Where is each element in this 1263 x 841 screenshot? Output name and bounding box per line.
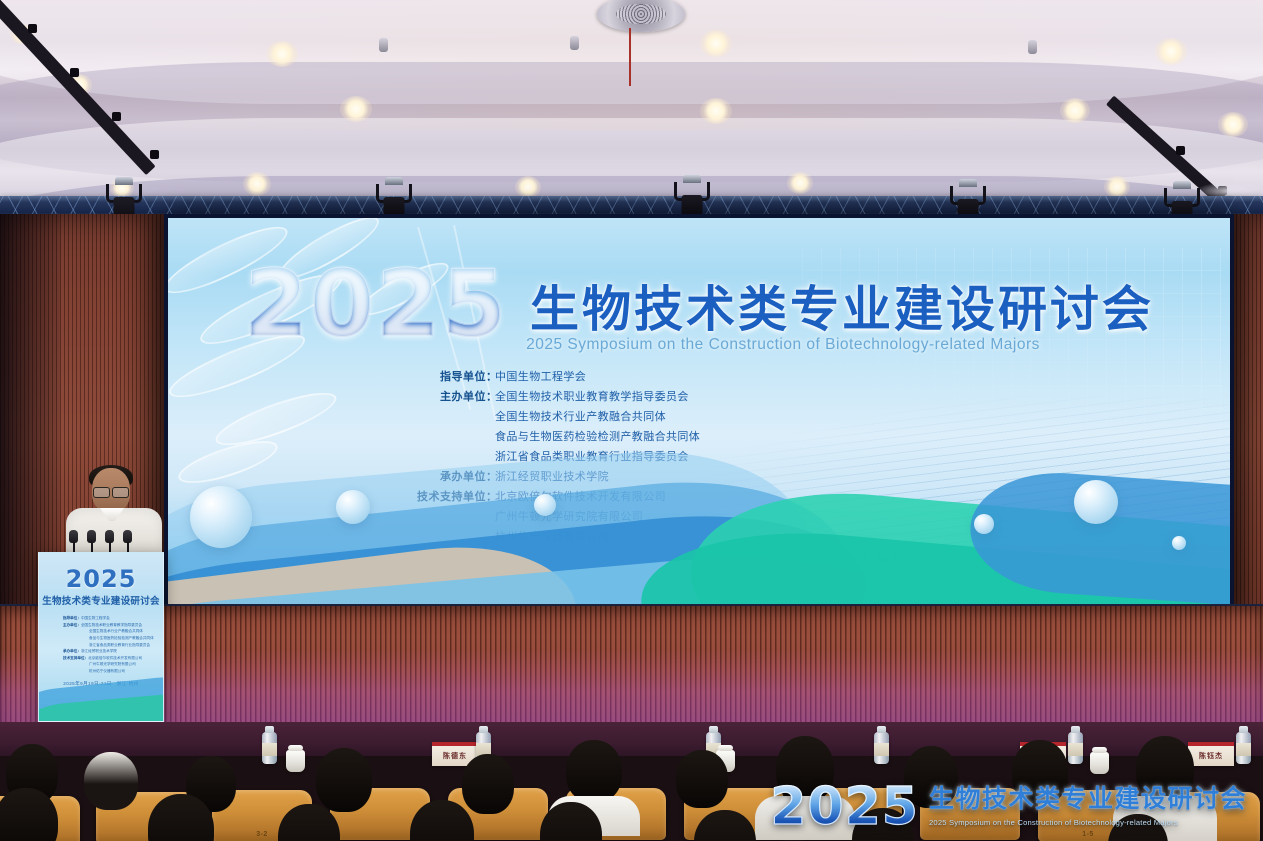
podium-organization-value: 全国生物技术行业产教融合共同体 bbox=[89, 629, 143, 633]
organization-colon: ： bbox=[486, 368, 495, 384]
event-watermark-logo: 2025 生物技术类专业建设研讨会 2025 Symposium on the … bbox=[770, 779, 1247, 831]
audience-head bbox=[410, 800, 474, 841]
rail-spotlight bbox=[1176, 146, 1185, 155]
podium-organization-line: 广州牛顿光学研究院有限公司 bbox=[63, 661, 155, 668]
tea-cup bbox=[1090, 752, 1109, 774]
table-name-card: 陈钰杰 bbox=[1188, 742, 1234, 766]
screen-surface: 2025 生物技术类专业建设研讨会 2025 Symposium on the … bbox=[168, 218, 1230, 606]
microphone bbox=[105, 530, 114, 543]
organization-label: 指导单位 bbox=[400, 368, 486, 384]
ceiling-downlight bbox=[1060, 98, 1090, 123]
audience-head bbox=[694, 810, 756, 841]
organization-value: 食品与生物医药检验检测产教融合共同体 bbox=[495, 428, 700, 444]
organization-line: 主办单位：全国生物技术职业教育教学指导委员会 bbox=[400, 388, 1230, 404]
podium-organizations: 指导单位：中国生物工程学会主办单位：全国生物技术职业教育教学指导委员会全国生物技… bbox=[63, 615, 155, 675]
audience-head bbox=[278, 804, 340, 841]
bottle-cap bbox=[265, 726, 274, 733]
rail-spotlight bbox=[112, 112, 121, 121]
organization-value: 中国生物工程学会 bbox=[495, 368, 586, 384]
ceiling-downlight bbox=[787, 172, 813, 194]
podium-organization-value: 全国生物技术职业教育教学指导委员会 bbox=[81, 623, 142, 627]
water-bottle bbox=[1068, 732, 1083, 764]
podium-organization-line: 食品与生物医药检验检测产教融合共同体 bbox=[63, 635, 155, 642]
bottle-cap bbox=[709, 726, 718, 733]
podium-organization-line: 浙江省食品类职业教育行业指导委员会 bbox=[63, 642, 155, 649]
seat-number: 3-2 bbox=[256, 831, 268, 838]
microphone bbox=[69, 530, 78, 543]
ceiling-downlight bbox=[700, 30, 732, 57]
bottle-cap bbox=[877, 726, 886, 733]
audience-member bbox=[278, 804, 340, 841]
audience-member bbox=[148, 794, 214, 841]
podium-organization-line: 主办单位：全国生物技术职业教育教学指导委员会 bbox=[63, 622, 155, 629]
decorative-sphere bbox=[1074, 480, 1118, 524]
podium-organization-value: 浙江经贸职业技术学院 bbox=[81, 649, 117, 653]
rail-spotlight bbox=[28, 24, 37, 33]
ceiling-downlight bbox=[266, 41, 298, 67]
decorative-sphere bbox=[1172, 536, 1186, 550]
audience-member bbox=[540, 802, 602, 841]
audience-head bbox=[566, 740, 622, 802]
bottle-label bbox=[1068, 743, 1083, 756]
podium-organization-label: 主办单位： bbox=[63, 623, 81, 627]
podium-organization-label: 指导单位： bbox=[63, 616, 81, 620]
bottle-label bbox=[1236, 743, 1251, 756]
audience-head bbox=[148, 794, 214, 841]
organization-line: 指导单位：中国生物工程学会 bbox=[400, 368, 1230, 384]
bottle-cap bbox=[479, 726, 488, 733]
audience-head bbox=[540, 802, 602, 841]
podium-year: 2025 bbox=[39, 565, 163, 593]
watermark-title-cn: 生物技术类专业建设研讨会 bbox=[929, 779, 1247, 815]
watermark-year: 2025 bbox=[770, 785, 919, 831]
water-bottle bbox=[1236, 732, 1251, 764]
audience-member bbox=[410, 800, 474, 841]
speaker-glasses bbox=[93, 487, 110, 498]
seat-number: 1-5 bbox=[1082, 831, 1094, 838]
decorative-sphere bbox=[190, 486, 252, 548]
podium-organization-value: 食品与生物医药检验检测产教融合共同体 bbox=[89, 636, 154, 640]
audience-head bbox=[676, 750, 728, 808]
ceiling-downlight bbox=[340, 96, 372, 122]
ceiling-sensor bbox=[379, 38, 388, 52]
ceiling-downlight bbox=[1155, 38, 1187, 65]
audience-member bbox=[694, 810, 756, 841]
podium-organization-line: 指导单位：中国生物工程学会 bbox=[63, 615, 155, 622]
decorative-sphere bbox=[534, 494, 556, 516]
speaker-presenter bbox=[60, 468, 168, 560]
audience-head bbox=[316, 748, 372, 812]
podium-organization-value: 北京欧倍尔软件技术开发有限公司 bbox=[88, 656, 142, 660]
name-card-text: 陈钰杰 bbox=[1199, 751, 1223, 761]
podium-organization-line: 全国生物技术行业产教融合共同体 bbox=[63, 628, 155, 635]
podium-organization-value: 广州牛顿光学研究院有限公司 bbox=[89, 662, 136, 666]
banner-title-en: 2025 Symposium on the Construction of Bi… bbox=[168, 336, 1230, 354]
led-stage-screen: 2025 生物技术类专业建设研讨会 2025 Symposium on the … bbox=[164, 214, 1234, 610]
watermark-title-en: 2025 Symposium on the Construction of Bi… bbox=[929, 818, 1247, 827]
bottle-cap bbox=[1239, 726, 1248, 733]
audience-head bbox=[0, 788, 58, 841]
organization-colon: ： bbox=[486, 388, 495, 404]
organization-value: 全国生物技术行业产教融合共同体 bbox=[495, 408, 666, 424]
organization-line: 食品与生物医药检验检测产教融合共同体 bbox=[400, 428, 1230, 444]
decorative-sphere bbox=[336, 490, 370, 524]
ceiling-downlight bbox=[700, 98, 732, 124]
speaker-glasses bbox=[112, 487, 129, 498]
microphone bbox=[87, 530, 96, 543]
ceiling-sensor bbox=[570, 36, 579, 50]
banner-title-row: 2025 生物技术类专业建设研讨会 bbox=[168, 262, 1230, 347]
ceiling-downlight bbox=[1218, 112, 1248, 137]
bottle-cap bbox=[1071, 726, 1080, 733]
podium-organization-value: 浙江省食品类职业教育行业指导委员会 bbox=[89, 643, 150, 647]
audience-member bbox=[84, 752, 138, 810]
banner-title-cn: 生物技术类专业建设研讨会 bbox=[530, 270, 1154, 341]
sprinkler-drop-rod bbox=[629, 28, 631, 86]
ceiling-downlight bbox=[243, 172, 271, 196]
podium-organization-label: 技术支持单位： bbox=[63, 656, 88, 660]
podium-organization-value: 杭州佑宁仪器有限公司 bbox=[89, 669, 125, 673]
ceiling-sensor bbox=[1028, 40, 1037, 54]
podium-lectern: 2025 生物技术类专业建设研讨会 指导单位：中国生物工程学会主办单位：全国生物… bbox=[38, 552, 164, 722]
audience-member bbox=[0, 788, 58, 841]
podium-title-cn: 生物技术类专业建设研讨会 bbox=[39, 593, 163, 607]
microphone bbox=[123, 530, 132, 543]
banner-year: 2025 bbox=[244, 262, 508, 347]
watermark-text-block: 生物技术类专业建设研讨会 2025 Symposium on the Const… bbox=[929, 779, 1247, 827]
organization-value: 全国生物技术职业教育教学指导委员会 bbox=[495, 388, 689, 404]
podium-organization-line: 杭州佑宁仪器有限公司 bbox=[63, 668, 155, 675]
organization-line: 全国生物技术行业产教融合共同体 bbox=[400, 408, 1230, 424]
audience-head bbox=[84, 752, 138, 810]
tea-cup bbox=[286, 750, 305, 772]
ceiling-downlight bbox=[515, 176, 541, 198]
rail-spotlight bbox=[150, 150, 159, 159]
podium-organization-line: 技术支持单位：北京欧倍尔软件技术开发有限公司 bbox=[63, 655, 155, 662]
rail-spotlight bbox=[70, 68, 79, 77]
water-bottle bbox=[874, 732, 889, 764]
water-bottle bbox=[262, 732, 277, 764]
decorative-sphere bbox=[974, 514, 994, 534]
conference-photo: 2025 生物技术类专业建设研讨会 2025 Symposium on the … bbox=[0, 0, 1263, 841]
podium-organization-value: 中国生物工程学会 bbox=[81, 616, 110, 620]
bottle-label bbox=[262, 743, 277, 756]
podium-organization-line: 承办单位：浙江经贸职业技术学院 bbox=[63, 648, 155, 655]
bottle-label bbox=[874, 743, 889, 756]
podium-organization-label: 承办单位： bbox=[63, 649, 81, 653]
audience-member bbox=[316, 748, 372, 812]
ceiling-downlight bbox=[1104, 176, 1130, 198]
audience-member bbox=[676, 750, 728, 808]
organization-label: 主办单位 bbox=[400, 388, 486, 404]
audience-member bbox=[566, 740, 622, 802]
